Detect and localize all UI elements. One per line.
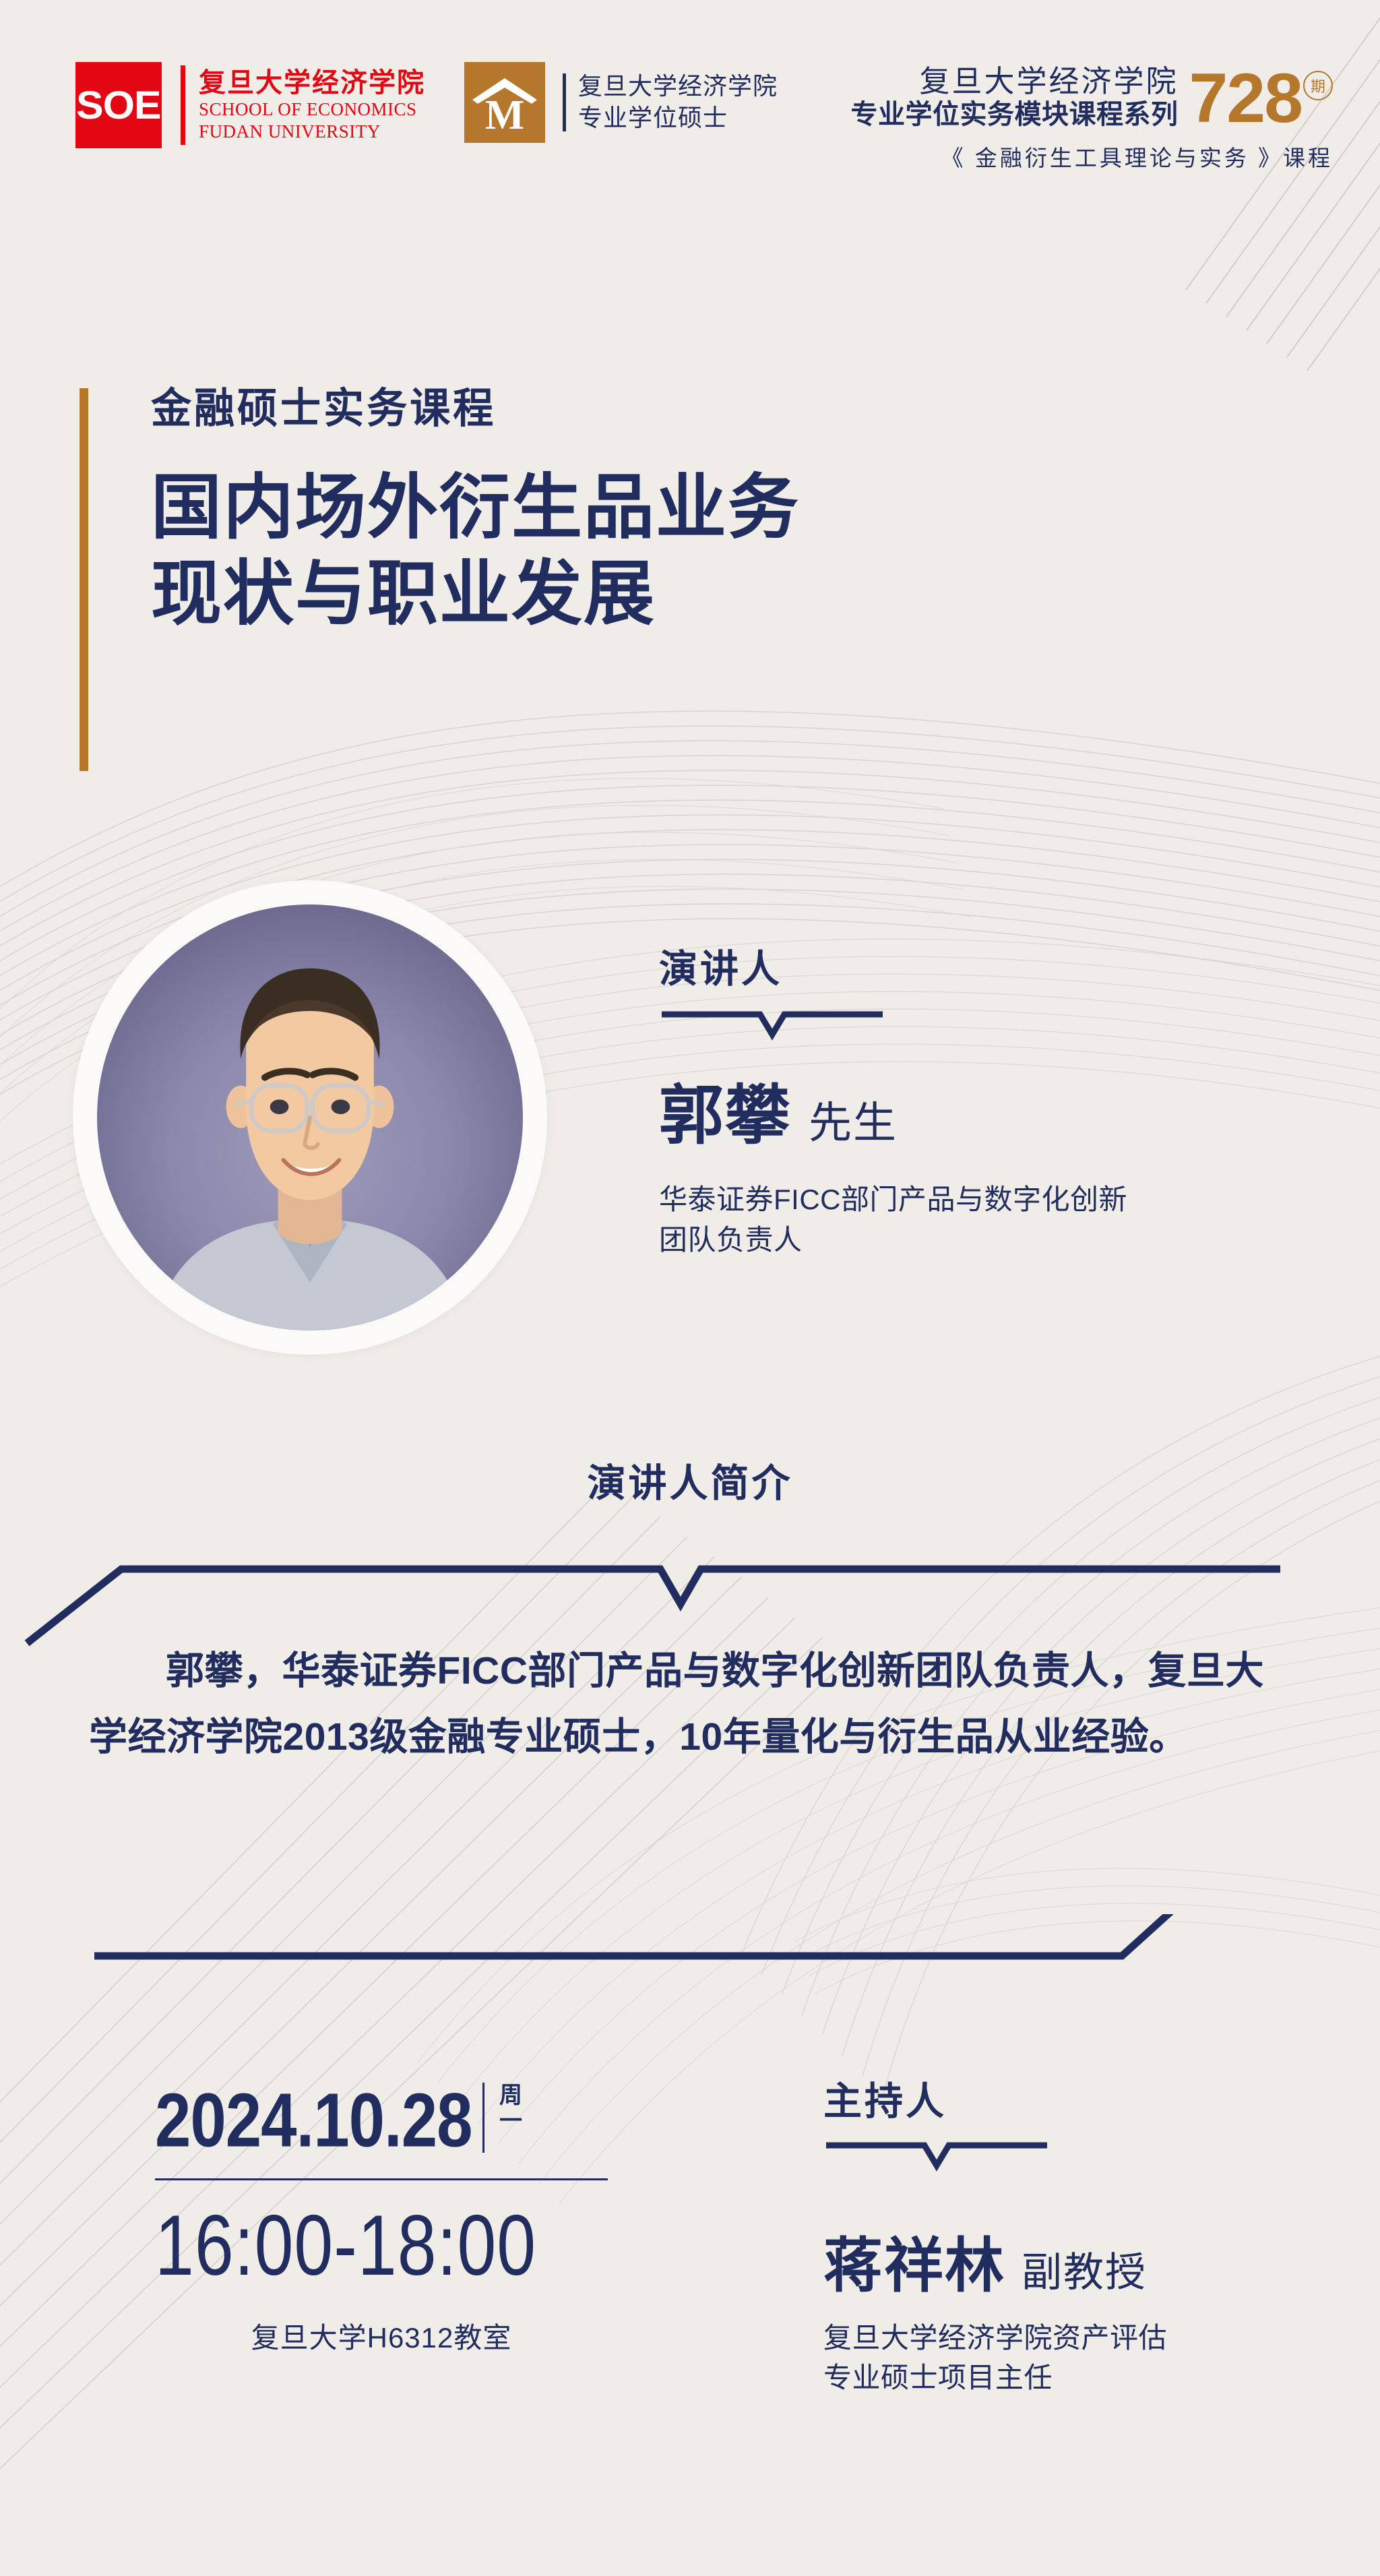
soe-wordmark-cn: 复旦大学经济学院 <box>199 67 425 98</box>
event-details: 2024.10.28 周 一 16:00-18:00 复旦大学H6312教室 主… <box>0 2083 1380 2433</box>
header-series-info: 复旦大学经济学院 专业学位实务模块课程系列 728 期 《 金融衍生工具理论与实… <box>850 62 1333 173</box>
soe-divider-bar <box>181 65 185 145</box>
mpa-divider-bar <box>563 73 566 131</box>
speaker-portrait <box>73 880 547 1355</box>
page-title: 国内场外衍生品业务 现状与职业发展 <box>151 465 800 638</box>
poster-canvas: SOE 复旦大学经济学院 SCHOOL OF ECONOMICS FUDAN U… <box>0 0 1380 2576</box>
title-line-1: 国内场外衍生品业务 <box>151 465 800 551</box>
bio-bracket-bottom-icon <box>0 1914 1380 2069</box>
host-org-line-1: 复旦大学经济学院资产评估 <box>823 2319 1336 2358</box>
host-section: 主持人 蒋祥林 副教授 复旦大学经济学院资产评估 专业硕士项目主任 <box>823 2083 1336 2398</box>
avatar <box>97 904 523 1330</box>
issue-number: 728 <box>1189 67 1302 131</box>
soe-logo-text: SOE <box>76 83 160 128</box>
host-name: 蒋祥林 <box>823 2236 1005 2296</box>
speaker-section: 演讲人 郭攀 先生 华泰证券FICC部门产品与数字化创新 团队负责人 <box>659 950 1333 1260</box>
host-notch-divider-icon <box>823 2139 1050 2176</box>
title-line-2: 现状与职业发展 <box>151 551 800 638</box>
mpa-wordmark-line1: 复旦大学经济学院 <box>578 71 778 102</box>
schedule-rule <box>155 2178 608 2180</box>
logo-soe: SOE 复旦大学经济学院 SCHOOL OF ECONOMICS FUDAN U… <box>75 62 425 148</box>
event-schedule: 2024.10.28 周 一 16:00-18:00 复旦大学H6312教室 <box>155 2083 667 2356</box>
notch-divider-icon <box>659 1008 885 1045</box>
mpa-wordmark: 复旦大学经济学院 专业学位硕士 <box>578 71 778 134</box>
poster-header: SOE 复旦大学经济学院 SCHOOL OF ECONOMICS FUDAN U… <box>75 62 1333 173</box>
weekday-char-1: 周 <box>495 2083 526 2108</box>
speaker-title: 华泰证券FICC部门产品与数字化创新 团队负责人 <box>659 1179 1333 1260</box>
title-kicker: 金融硕士实务课程 <box>151 388 780 430</box>
speaker-title-line-2: 团队负责人 <box>659 1220 1333 1260</box>
speaker-honorific: 先生 <box>809 1101 898 1144</box>
event-weekday: 周 一 <box>495 2083 526 2134</box>
series-line-2: 专业学位实务模块课程系列 <box>850 99 1178 131</box>
event-room: 复旦大学H6312教室 <box>155 2315 608 2356</box>
mpa-wordmark-line2: 专业学位硕士 <box>578 102 778 134</box>
soe-wordmark-en1: SCHOOL OF ECONOMICS <box>199 98 425 121</box>
weekday-char-2: 一 <box>495 2108 526 2134</box>
event-time: 16:00-18:00 <box>155 2203 667 2289</box>
logo-professional-master: M 复旦大学经济学院 专业学位硕士 <box>464 62 778 143</box>
issue-unit-badge: 期 <box>1303 71 1333 100</box>
portrait-illustration <box>97 904 523 1330</box>
soe-logo-mark: SOE <box>75 62 162 148</box>
bio-bracket-top-icon <box>0 1530 1380 1651</box>
bio-heading: 演讲人简介 <box>0 1452 1380 1508</box>
host-organization: 复旦大学经济学院资产评估 专业硕士项目主任 <box>823 2319 1336 2398</box>
series-line-1: 复旦大学经济学院 <box>850 63 1178 99</box>
soe-wordmark: 复旦大学经济学院 SCHOOL OF ECONOMICS FUDAN UNIVE… <box>199 67 425 143</box>
event-date: 2024.10.28 <box>155 2083 472 2159</box>
bio-paragraph: 郭攀，华泰证券FICC部门产品与数字化创新团队负责人，复旦大学经济学院2013级… <box>89 1638 1295 1770</box>
speaker-title-line-1: 华泰证券FICC部门产品与数字化创新 <box>659 1179 1333 1220</box>
speaker-name: 郭攀 <box>659 1084 791 1148</box>
date-separator <box>482 2083 484 2153</box>
course-name: 《 金融衍生工具理论与实务 》课程 <box>850 140 1333 173</box>
host-rank: 副教授 <box>1022 2252 1147 2293</box>
title-accent-bar <box>80 388 88 771</box>
host-org-line-2: 专业硕士项目主任 <box>823 2358 1336 2398</box>
mpa-logo-mark: M <box>464 62 545 143</box>
host-label: 主持人 <box>823 2083 1336 2121</box>
issue-badge: 728 期 <box>1178 67 1333 131</box>
title-block: 金融硕士实务课程 国内场外衍生品业务 现状与职业发展 <box>80 388 800 638</box>
speaker-label: 演讲人 <box>659 950 1333 989</box>
soe-wordmark-en2: FUDAN UNIVERSITY <box>199 121 425 143</box>
mpa-logo-letter: M <box>464 94 545 136</box>
